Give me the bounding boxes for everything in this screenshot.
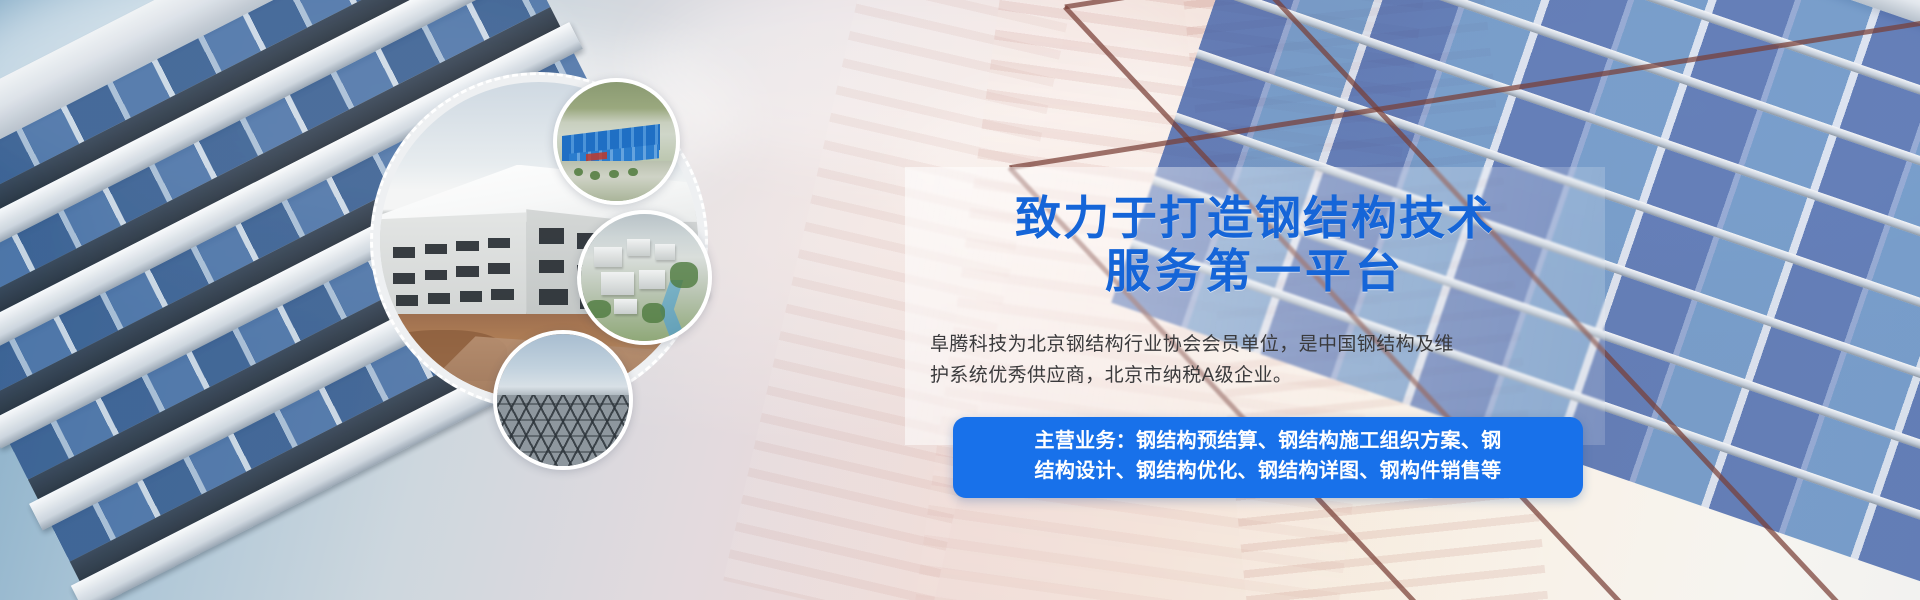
business-line-1: 主营业务：钢结构预结算、钢结构施工组织方案、钢 — [967, 426, 1569, 456]
company-description: 阜腾科技为北京钢结构行业协会会员单位，是中国钢结构及维 护系统优秀供应商，北京市… — [930, 330, 1590, 392]
description-line-1: 阜腾科技为北京钢结构行业协会会员单位，是中国钢结构及维 — [930, 330, 1590, 361]
headline-line-1: 致力于打造钢结构技术 — [1015, 193, 1495, 244]
factory-aerial-blue-roof-photo — [553, 78, 680, 205]
description-line-2: 护系统优秀供应商，北京市纳税A级企业。 — [930, 361, 1590, 392]
page-title: 致力于打造钢结构技术 服务第一平台 — [905, 192, 1605, 299]
business-line-2: 结构设计、钢结构优化、钢结构详图、钢构件销售等 — [967, 456, 1569, 486]
hero-banner: 致力于打造钢结构技术 服务第一平台 阜腾科技为北京钢结构行业协会会员单位，是中国… — [0, 0, 1920, 600]
campus-aerial-river-photo — [577, 210, 712, 345]
business-scope-box: 主营业务：钢结构预结算、钢结构施工组织方案、钢 结构设计、钢结构优化、钢结构详图… — [953, 417, 1583, 498]
headline-line-2: 服务第一平台 — [905, 245, 1605, 298]
steel-space-frame-photo — [493, 330, 633, 470]
